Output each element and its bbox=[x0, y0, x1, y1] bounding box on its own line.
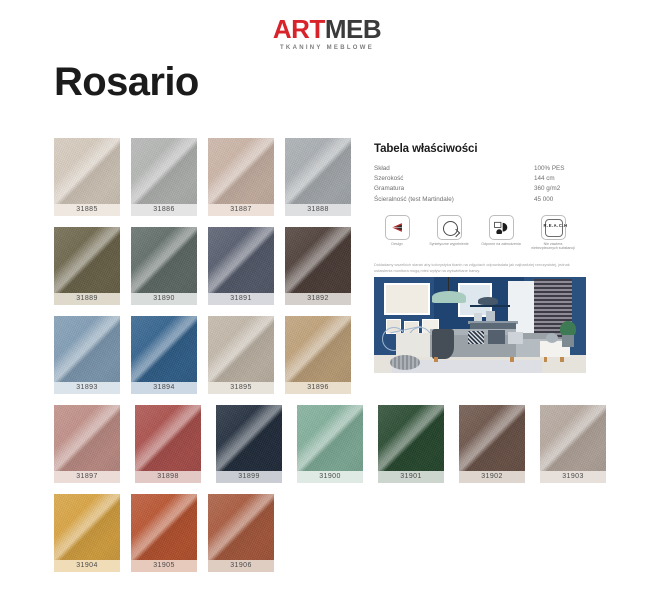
swatch-31895[interactable]: 31895 bbox=[208, 316, 274, 394]
swatch-code-label: 31899 bbox=[216, 471, 282, 483]
swatch-row: 319043190531906 bbox=[54, 494, 606, 572]
properties-heading: Tabela właściwości bbox=[374, 143, 586, 155]
swatch-code-label: 31888 bbox=[285, 204, 351, 216]
swatch-code-label: 31897 bbox=[54, 471, 120, 483]
brand-wordmark: ARTMEB bbox=[0, 16, 654, 42]
photo-armchair bbox=[396, 333, 430, 357]
swatch-31894[interactable]: 31894 bbox=[131, 316, 197, 394]
swatch-code-label: 31890 bbox=[131, 293, 197, 305]
swatch-code-label: 31903 bbox=[540, 471, 606, 483]
swatch-code-label: 31902 bbox=[459, 471, 525, 483]
property-value: 360 g/m2 bbox=[534, 184, 586, 194]
swatch-code-label: 31901 bbox=[378, 471, 444, 483]
swatch-fabric-image bbox=[285, 227, 351, 293]
brand-name-second: MEB bbox=[325, 14, 381, 44]
swatch-fabric-image bbox=[216, 405, 282, 471]
property-row: Szerokość144 cm bbox=[374, 174, 586, 184]
swatch-31906[interactable]: 31906 bbox=[208, 494, 274, 572]
swatch-fabric-image bbox=[208, 494, 274, 560]
swatch-fabric-image bbox=[131, 227, 197, 293]
property-row: Skład100% PES bbox=[374, 164, 586, 174]
water-drop-icon bbox=[437, 215, 462, 240]
swatch-fabric-image bbox=[131, 316, 197, 382]
swatch-31892[interactable]: 31892 bbox=[285, 227, 351, 305]
design-icon bbox=[385, 215, 410, 240]
swatch-fabric-image bbox=[54, 494, 120, 560]
photo-pouf bbox=[390, 355, 420, 370]
swatch-31885[interactable]: 31885 bbox=[54, 138, 120, 216]
photo-jar-1 bbox=[474, 313, 482, 321]
photo-cushion-3 bbox=[508, 332, 523, 344]
swatch-fabric-image bbox=[208, 316, 274, 382]
property-name: Gramatura bbox=[374, 184, 534, 194]
feature-icons: DesignSyntetyczne wypełnienieOdporne na … bbox=[374, 215, 586, 251]
swatch-code-label: 31905 bbox=[131, 560, 197, 572]
swatch-31889[interactable]: 31889 bbox=[54, 227, 120, 305]
disclaimer-paragraph: Dokładamy wszelkich starań aby kolorysty… bbox=[374, 262, 586, 274]
swatch-code-label: 31889 bbox=[54, 293, 120, 305]
property-value: 45 000 bbox=[534, 195, 586, 205]
photo-plant-pot bbox=[562, 335, 574, 347]
brand-tagline: TKANINY MEBLOWE bbox=[0, 45, 654, 51]
feature-caption: Odporne na zabrudzenia bbox=[478, 242, 524, 246]
brand-name-first: ART bbox=[273, 14, 325, 44]
swatch-31893[interactable]: 31893 bbox=[54, 316, 120, 394]
photo-vase bbox=[546, 333, 558, 343]
swatch-fabric-image bbox=[540, 405, 606, 471]
feature-caption: Syntetyczne wypełnienie bbox=[426, 242, 472, 246]
properties-table: Skład100% PESSzerokość144 cmGramatura360… bbox=[374, 164, 586, 205]
photo-cushion-1 bbox=[468, 331, 484, 344]
swatch-fabric-image bbox=[54, 405, 120, 471]
interior-photo bbox=[374, 277, 586, 373]
swatch-code-label: 31891 bbox=[208, 293, 274, 305]
swatch-fabric-image bbox=[54, 316, 120, 382]
swatch-31897[interactable]: 31897 bbox=[54, 405, 120, 483]
swatch-31890[interactable]: 31890 bbox=[131, 227, 197, 305]
feature-reach: R.E.A.C.HNie zawiera niebezpiecznych sub… bbox=[530, 215, 576, 251]
swatch-code-label: 31885 bbox=[54, 204, 120, 216]
swatch-code-label: 31904 bbox=[54, 560, 120, 572]
swatch-31903[interactable]: 31903 bbox=[540, 405, 606, 483]
swatch-row: 31897318983189931900319013190231903 bbox=[54, 405, 606, 483]
swatch-code-label: 31887 bbox=[208, 204, 274, 216]
photo-side-table-leg bbox=[544, 357, 547, 362]
swatch-fabric-image bbox=[131, 138, 197, 204]
properties-panel: Tabela właściwości Skład100% PESSzerokoś… bbox=[374, 143, 586, 292]
property-row: Ścieralność (test Martindale)45 000 bbox=[374, 195, 586, 205]
photo-shelf-upper bbox=[470, 305, 510, 307]
photo-cushion-2 bbox=[488, 330, 505, 344]
swatch-31888[interactable]: 31888 bbox=[285, 138, 351, 216]
feature-water-drop: Syntetyczne wypełnienie bbox=[426, 215, 472, 251]
swatch-fabric-image bbox=[54, 138, 120, 204]
photo-sofa-leg-2 bbox=[510, 357, 514, 362]
photo-bowl bbox=[478, 297, 498, 305]
swatch-fabric-image bbox=[135, 405, 201, 471]
swatch-31905[interactable]: 31905 bbox=[131, 494, 197, 572]
swatch-31899[interactable]: 31899 bbox=[216, 405, 282, 483]
property-row: Gramatura360 g/m2 bbox=[374, 184, 586, 194]
stain-resistant-icon bbox=[489, 215, 514, 240]
swatch-31898[interactable]: 31898 bbox=[135, 405, 201, 483]
swatch-fabric-image bbox=[459, 405, 525, 471]
swatch-code-label: 31906 bbox=[208, 560, 274, 572]
photo-pendant-lamp bbox=[432, 291, 466, 303]
swatch-fabric-image bbox=[208, 138, 274, 204]
photo-throw-blanket bbox=[432, 329, 454, 359]
swatch-fabric-image bbox=[285, 138, 351, 204]
swatch-31887[interactable]: 31887 bbox=[208, 138, 274, 216]
fabric-catalog-page: ARTMEB TKANINY MEBLOWE Rosario 318853188… bbox=[0, 0, 654, 602]
brand-logo: ARTMEB TKANINY MEBLOWE bbox=[0, 16, 654, 51]
property-name: Ścieralność (test Martindale) bbox=[374, 195, 534, 205]
swatch-fabric-image bbox=[297, 405, 363, 471]
swatch-31891[interactable]: 31891 bbox=[208, 227, 274, 305]
feature-caption: Nie zawiera niebezpiecznych substancji bbox=[530, 242, 576, 251]
swatch-31886[interactable]: 31886 bbox=[131, 138, 197, 216]
photo-sofa-leg-1 bbox=[434, 357, 438, 362]
feature-design: Design bbox=[374, 215, 420, 251]
swatch-code-label: 31895 bbox=[208, 382, 274, 394]
reach-icon: R.E.A.C.H bbox=[541, 215, 566, 240]
feature-stain-resistant: Odporne na zabrudzenia bbox=[478, 215, 524, 251]
swatch-fabric-image bbox=[378, 405, 444, 471]
swatch-31896[interactable]: 31896 bbox=[285, 316, 351, 394]
swatch-code-label: 31894 bbox=[131, 382, 197, 394]
swatch-fabric-image bbox=[208, 227, 274, 293]
swatch-code-label: 31892 bbox=[285, 293, 351, 305]
swatch-fabric-image bbox=[131, 494, 197, 560]
swatch-31904[interactable]: 31904 bbox=[54, 494, 120, 572]
photo-framed-art-large bbox=[384, 283, 430, 315]
feature-caption: Design bbox=[374, 242, 420, 246]
page-title: Rosario bbox=[54, 62, 199, 102]
swatch-code-label: 31896 bbox=[285, 382, 351, 394]
swatch-code-label: 31893 bbox=[54, 382, 120, 394]
property-value: 100% PES bbox=[534, 164, 586, 174]
swatch-31901[interactable]: 31901 bbox=[378, 405, 444, 483]
swatch-fabric-image bbox=[54, 227, 120, 293]
swatch-code-label: 31900 bbox=[297, 471, 363, 483]
property-name: Skład bbox=[374, 164, 534, 174]
swatch-code-label: 31886 bbox=[131, 204, 197, 216]
swatch-code-label: 31898 bbox=[135, 471, 201, 483]
property-name: Szerokość bbox=[374, 174, 534, 184]
swatch-fabric-image bbox=[285, 316, 351, 382]
photo-jar-2 bbox=[486, 311, 495, 321]
property-value: 144 cm bbox=[534, 174, 586, 184]
photo-sofa-leg-3 bbox=[560, 357, 564, 362]
swatch-31900[interactable]: 31900 bbox=[297, 405, 363, 483]
photo-pendant-cord bbox=[448, 277, 449, 291]
swatch-31902[interactable]: 31902 bbox=[459, 405, 525, 483]
